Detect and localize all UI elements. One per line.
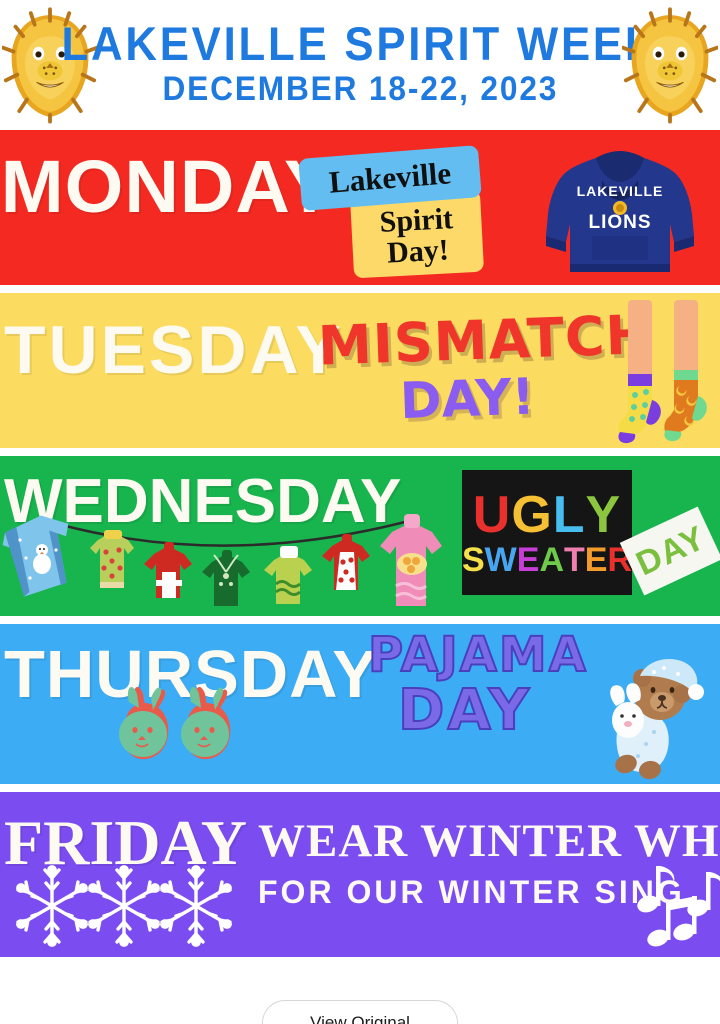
friday-theme-line2: FOR OUR WINTER SING bbox=[258, 874, 685, 911]
ugly-sweater-logo-box: U G L Y S W E A T E R bbox=[462, 470, 632, 595]
ugly-letter: U bbox=[473, 489, 512, 541]
sweater-letter: A bbox=[539, 543, 564, 577]
lion-mascot-icon bbox=[622, 6, 718, 124]
poster-header: LAKEVILLE SPIRIT WEEK DECEMBER 18-22, 20… bbox=[0, 0, 720, 130]
sweater-letter: S bbox=[462, 543, 485, 577]
mismatched-socks-icon bbox=[618, 300, 720, 445]
band-divider bbox=[0, 784, 720, 792]
sweater-letter: T bbox=[564, 543, 585, 577]
hoodie-text-lions: LIONS bbox=[588, 212, 651, 233]
sweater-letter: W bbox=[485, 543, 517, 577]
sweater-letter: E bbox=[517, 543, 540, 577]
tuesday-theme-text: MISMATCH DAY! bbox=[318, 309, 638, 426]
ugly-word: U G L Y bbox=[473, 489, 621, 541]
day-label-tuesday: TUESDAY bbox=[4, 311, 344, 389]
header-text-block: LAKEVILLE SPIRIT WEEK DECEMBER 18-22, 20… bbox=[39, 20, 682, 109]
monday-sticker-day-text: Day! bbox=[386, 234, 449, 269]
thursday-theme-line2: DAY bbox=[398, 684, 598, 738]
page-subtitle: DECEMBER 18-22, 2023 bbox=[61, 70, 659, 109]
day-label-monday: MONDAY bbox=[1, 144, 336, 229]
sweater-letter: E bbox=[585, 543, 608, 577]
band-divider bbox=[0, 448, 720, 456]
ugly-sweater-garland-icon bbox=[0, 502, 460, 608]
ugly-letter: L bbox=[553, 489, 586, 541]
day-band-tuesday: TUESDAY MISMATCH DAY! bbox=[0, 293, 720, 448]
lakeville-lions-hoodie-icon: LAKEVILLE LIONS bbox=[540, 140, 700, 280]
view-original-button[interactable]: View Original bbox=[262, 1000, 458, 1024]
snowflakes-icon bbox=[14, 862, 234, 950]
ugly-letter: G bbox=[511, 489, 552, 541]
page-title: LAKEVILLE SPIRIT WEEK bbox=[61, 20, 659, 68]
band-divider bbox=[0, 616, 720, 624]
thursday-theme-text: PAJAMA DAY bbox=[368, 632, 598, 738]
music-notes-icon bbox=[636, 858, 720, 950]
monday-sticker-lakeville-text: Lakeville bbox=[328, 157, 452, 199]
sweater-word: S W E A T E R bbox=[462, 543, 632, 577]
ugly-letter: Y bbox=[586, 489, 622, 541]
view-original-label: View Original bbox=[310, 1013, 410, 1024]
hoodie-text-lakeville: LAKEVILLE bbox=[577, 183, 664, 199]
spirit-week-poster: LAKEVILLE SPIRIT WEEK DECEMBER 18-22, 20… bbox=[0, 0, 720, 1024]
bunny-slippers-icon bbox=[105, 680, 265, 770]
band-divider bbox=[0, 285, 720, 293]
tuesday-theme-line2: DAY! bbox=[399, 364, 639, 430]
teddy-bear-pajamas-icon bbox=[588, 648, 714, 780]
monday-sticker-spirit-text: Spirit bbox=[379, 203, 454, 238]
thursday-theme-line1: PAJAMA bbox=[368, 632, 598, 678]
